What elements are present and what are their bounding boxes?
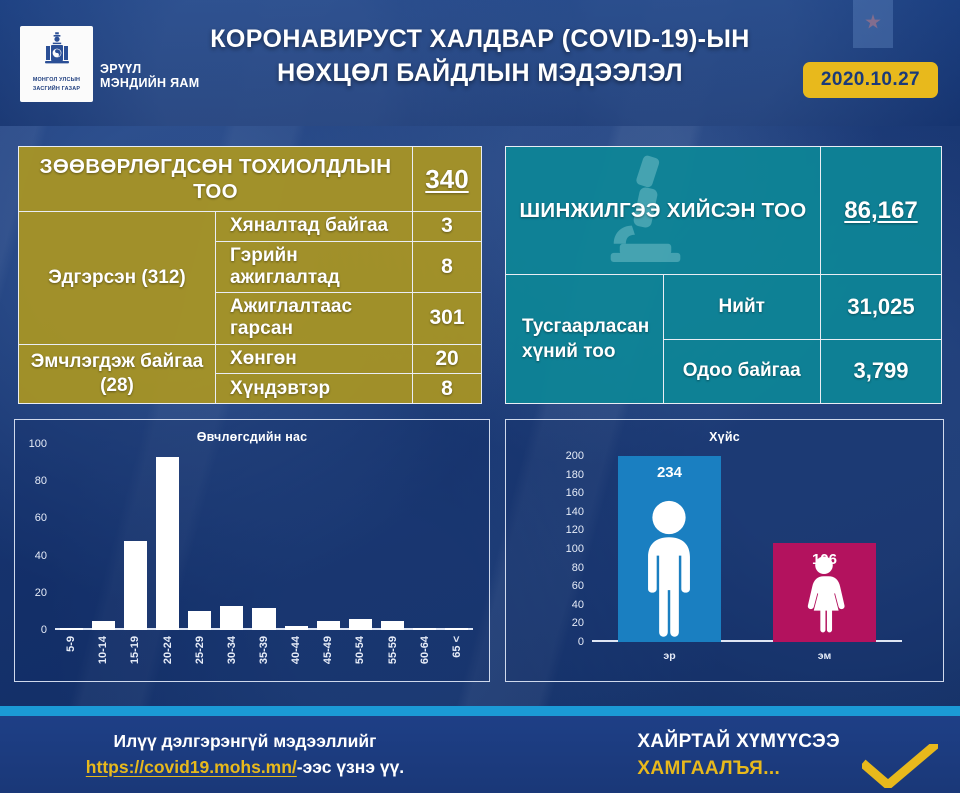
gender-x-tick-label: эр	[592, 650, 747, 662]
age-y-tick: 100	[17, 438, 47, 450]
age-bar	[92, 621, 115, 630]
table-row: Тусгаарласан хүний тоо Нийт 31,025	[506, 275, 942, 340]
covid-website-link[interactable]: https://covid19.mohs.mn/	[86, 757, 297, 777]
footer-line2-tail: -ээс үзнэ үү.	[297, 757, 404, 777]
row-value-mild: 20	[413, 344, 482, 374]
footer-info-text: Илүү дэлгэрэнгүй мэдээллийг https://covi…	[30, 728, 460, 780]
row-label-released: Ажиглалтаас гарсан	[216, 293, 413, 345]
gender-y-tick: 180	[552, 469, 584, 481]
age-chart-title: Өвчлөгсдийн нас	[15, 430, 489, 444]
row-value-home-observation: 8	[413, 241, 482, 293]
age-y-tick: 0	[17, 624, 47, 636]
mongolia-flag-icon	[853, 0, 893, 48]
age-x-tick-label: 55-59	[387, 636, 399, 664]
gold-head-label: ЗӨӨВӨРЛӨГДСӨН ТОХИОЛДЛЫН ТОО	[19, 147, 413, 212]
age-bar	[445, 628, 468, 630]
row-value-severe: 8	[413, 374, 482, 404]
table-row: Эмчлэгдэж байгаа (28) Хөнгөн 20	[19, 344, 482, 374]
age-x-tick-label: 5-9	[65, 636, 77, 652]
row-label-current: Одоо байгаа	[663, 339, 821, 404]
age-y-tick: 40	[17, 550, 47, 562]
age-bar	[60, 628, 83, 630]
gender-y-tick: 100	[552, 543, 584, 555]
logo-text-line1: МОНГОЛ УЛСЫН	[33, 77, 80, 84]
age-x-tick-label: 60-64	[419, 636, 431, 664]
gender-chart-title: Хүйс	[506, 430, 943, 444]
gender-y-tick: 20	[552, 617, 584, 629]
age-x-tick-label: 45-49	[322, 636, 334, 664]
gender-chart-plot: 234106	[592, 456, 902, 642]
tests-isolation-table: ШИНЖИЛГЭЭ ХИЙСЭН ТОО 86,167 Тусгаарласан…	[505, 146, 942, 404]
age-x-tick-label: 35-39	[258, 636, 270, 664]
page-title: КОРОНАВИРУСТ ХАЛДВАР (COVID-19)-ЫН НӨХЦӨ…	[150, 22, 810, 90]
row-label-home-observation: Гэрийн ажиглалтад	[216, 241, 413, 293]
gender-x-tick-label: эм	[747, 650, 902, 662]
teal-head-label: ШИНЖИЛГЭЭ ХИЙСЭН ТОО	[506, 147, 821, 275]
age-x-tick-label: 65 <	[451, 636, 463, 658]
row-value-released: 301	[413, 293, 482, 345]
age-bar	[285, 626, 308, 630]
age-bar	[381, 621, 404, 630]
row-label-severe: Хүндэвтэр	[216, 374, 413, 404]
group-isolated-label: Тусгаарласан хүний тоо	[506, 275, 664, 404]
age-bar	[413, 628, 436, 630]
age-x-tick-label: 25-29	[194, 636, 206, 664]
title-line-1: КОРОНАВИРУСТ ХАЛДВАР (COVID-19)-ЫН	[150, 22, 810, 56]
footer-stripe	[0, 706, 960, 716]
female-figure-icon	[802, 555, 846, 642]
date-badge: 2020.10.27	[803, 62, 938, 98]
age-bar	[156, 457, 179, 630]
soyombo-emblem-icon	[42, 31, 72, 75]
logo-text-line2: ЗАСГИЙН ГАЗАР	[33, 86, 80, 93]
age-bar	[124, 541, 147, 630]
age-y-tick: 60	[17, 512, 47, 524]
row-value-total: 31,025	[821, 275, 942, 340]
male-figure-icon	[632, 499, 706, 642]
gender-bar: 234	[618, 456, 720, 642]
group-recovered-label: Эдгэрсэн (312)	[19, 212, 216, 345]
row-value-current: 3,799	[821, 339, 942, 404]
age-x-tick-label: 30-34	[226, 636, 238, 664]
gender-y-tick: 0	[552, 636, 584, 648]
footer-line2: https://covid19.mohs.mn/-ээс үзнэ үү.	[30, 754, 460, 780]
transported-cases-table: ЗӨӨВӨРЛӨГДСӨН ТОХИОЛДЛЫН ТОО 340 Эдгэрсэ…	[18, 146, 482, 404]
age-x-tick-label: 40-44	[290, 636, 302, 664]
table-row: ЗӨӨВӨРЛӨГДСӨН ТОХИОЛДЛЫН ТОО 340	[19, 147, 482, 212]
age-x-tick-label: 50-54	[354, 636, 366, 664]
title-line-2: НӨХЦӨЛ БАЙДЛЫН МЭДЭЭЛЭЛ	[150, 56, 810, 90]
row-value-monitored: 3	[413, 212, 482, 242]
age-chart-plot	[55, 444, 473, 630]
gender-y-tick: 160	[552, 487, 584, 499]
checkmark-icon	[862, 744, 938, 788]
gender-bar-value-label: 234	[618, 464, 720, 481]
gender-y-tick: 140	[552, 506, 584, 518]
gender-y-tick: 80	[552, 562, 584, 574]
slogan-line2: ХАМГААЛЪЯ...	[637, 755, 840, 782]
age-y-tick: 80	[17, 475, 47, 487]
footer-bar: Илүү дэлгэрэнгүй мэдээллийг https://covi…	[0, 716, 960, 793]
age-bar	[252, 608, 275, 630]
infographic-page: МОНГОЛ УЛСЫН ЗАСГИЙН ГАЗАР ЭРҮҮЛ МЭНДИЙН…	[0, 0, 960, 793]
gender-y-tick: 60	[552, 580, 584, 592]
header-bar: МОНГОЛ УЛСЫН ЗАСГИЙН ГАЗАР ЭРҮҮЛ МЭНДИЙН…	[0, 0, 960, 126]
group-under-treatment-label: Эмчлэгдэж байгаа (28)	[19, 344, 216, 403]
footer-slogan: ХАЙРТАЙ ХҮМҮҮСЭЭ ХАМГААЛЪЯ...	[637, 728, 840, 782]
age-bar	[317, 621, 340, 630]
gender-bar: 106	[773, 543, 875, 642]
gender-y-tick: 40	[552, 599, 584, 611]
gender-y-tick: 120	[552, 524, 584, 536]
age-x-tick-label: 10-14	[97, 636, 109, 664]
gold-head-value: 340	[413, 147, 482, 212]
age-bar	[349, 619, 372, 630]
table-row: ШИНЖИЛГЭЭ ХИЙСЭН ТОО 86,167	[506, 147, 942, 275]
gender-chart-panel: Хүйс 020406080100120140160180200 234106 …	[505, 419, 944, 682]
gender-y-tick: 200	[552, 450, 584, 462]
footer-line1: Илүү дэлгэрэнгүй мэдээллийг	[30, 728, 460, 754]
age-chart-panel: Өвчлөгсдийн нас 020406080100 5-910-1415-…	[14, 419, 490, 682]
government-logo: МОНГОЛ УЛСЫН ЗАСГИЙН ГАЗАР	[20, 26, 93, 102]
slogan-line1: ХАЙРТАЙ ХҮМҮҮСЭЭ	[637, 728, 840, 755]
age-x-tick-label: 15-19	[129, 636, 141, 664]
age-bar	[188, 611, 211, 630]
age-y-tick: 20	[17, 587, 47, 599]
teal-head-value: 86,167	[821, 147, 942, 275]
table-row: Эдгэрсэн (312) Хяналтад байгаа 3	[19, 212, 482, 242]
row-label-monitored: Хяналтад байгаа	[216, 212, 413, 242]
age-bar	[220, 606, 243, 630]
row-label-total: Нийт	[663, 275, 821, 340]
age-x-tick-label: 20-24	[162, 636, 174, 664]
row-label-mild: Хөнгөн	[216, 344, 413, 374]
